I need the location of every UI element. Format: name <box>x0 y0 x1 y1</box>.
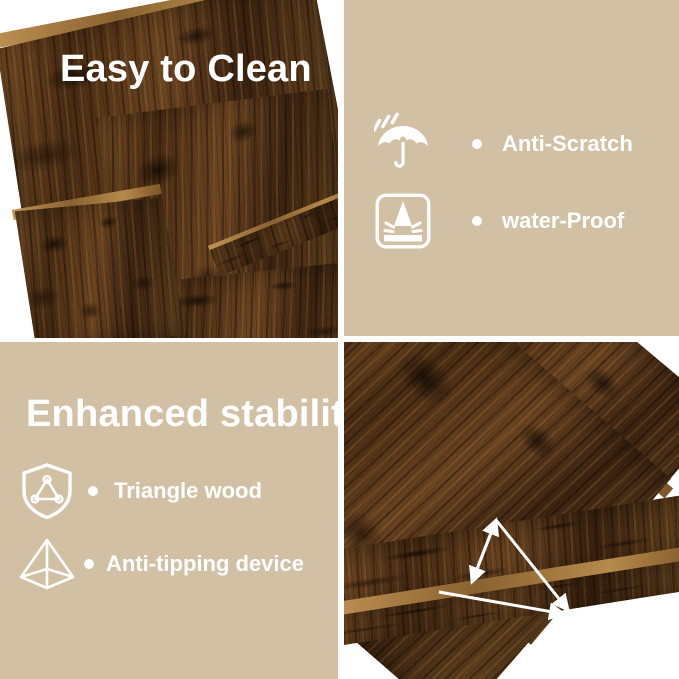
panel-bottom-right-photo <box>344 342 679 679</box>
page-title-enhanced-stability: Enhanced stability <box>26 393 365 436</box>
bullet-dot <box>472 216 482 226</box>
umbrella-rain-icon <box>374 112 432 176</box>
shield-triangle-icon <box>20 462 74 520</box>
feature-row-anti-scratch: Anti-Scratch <box>374 112 633 176</box>
feature-label-water-proof: water-Proof <box>502 208 624 234</box>
feature-label-anti-tipping-device: Anti-tipping device <box>106 551 304 577</box>
water-splash-surface-icon <box>374 192 432 250</box>
feature-row-anti-tipping: Anti-tipping device <box>18 536 304 592</box>
bullet-dot <box>88 486 98 496</box>
feature-label-triangle-wood: Triangle wood <box>114 478 262 504</box>
product-infographic: Easy to Clean Anti-Scratch <box>0 0 679 679</box>
wood-bracing-photo <box>344 342 679 679</box>
feature-row-water-proof: water-Proof <box>374 192 624 250</box>
pyramid-wireframe-icon <box>18 536 76 592</box>
feature-row-triangle-wood: Triangle wood <box>20 462 262 520</box>
feature-label-anti-scratch: Anti-Scratch <box>502 131 633 157</box>
bullet-dot <box>84 559 94 569</box>
page-title-easy-to-clean: Easy to Clean <box>60 48 312 91</box>
bullet-dot <box>472 139 482 149</box>
